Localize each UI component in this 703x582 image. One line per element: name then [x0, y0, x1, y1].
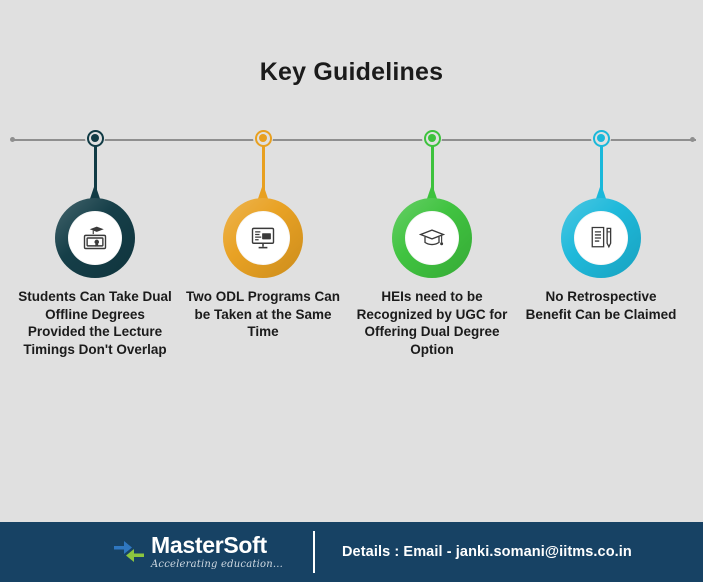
timeline-node-dot-4 [597, 134, 605, 142]
timeline-caption-1: Students Can Take Dual Offline Degrees P… [16, 288, 174, 358]
pin-icon-badge-4 [574, 211, 628, 265]
timeline-node-1[interactable] [85, 128, 105, 148]
infographic-canvas: Key Guidelines [0, 0, 703, 582]
timeline-node-ring-2 [255, 130, 272, 147]
footer-divider [313, 531, 315, 573]
certificate-graduation-icon [81, 224, 109, 252]
timeline-node-dot-1 [91, 134, 99, 142]
timeline-node-2[interactable] [253, 128, 273, 148]
timeline-node-ring-1 [87, 130, 104, 147]
timeline-caption-2: Two ODL Programs Can be Taken at the Sam… [184, 288, 342, 341]
timeline-axis-cap-left [10, 137, 15, 142]
footer-bar: MasterSoft Accelerating education... Det… [0, 522, 703, 582]
desktop-monitor-icon [249, 224, 277, 252]
timeline-node-3[interactable] [422, 128, 442, 148]
mastersoft-logo-mark-icon [112, 537, 146, 572]
footer-content: MasterSoft Accelerating education... Det… [112, 531, 632, 573]
pin-icon-badge-3 [405, 211, 459, 265]
page-title: Key Guidelines [0, 58, 703, 87]
mastersoft-logo-text: MasterSoft [151, 532, 267, 558]
timeline-caption-4: No Retrospective Benefit Can be Claimed [522, 288, 680, 323]
timeline-node-dot-3 [428, 134, 436, 142]
footer-contact-details: Details : Email - janki.somani@iitms.co.… [342, 544, 632, 560]
pin-icon-badge-2 [236, 211, 290, 265]
timeline-axis-cap-right [690, 137, 695, 142]
timeline-node-dot-2 [259, 134, 267, 142]
timeline-pin-3[interactable] [392, 184, 472, 278]
timeline-pin-1[interactable] [55, 184, 135, 278]
timeline-node-ring-4 [593, 130, 610, 147]
timeline-node-ring-3 [424, 130, 441, 147]
timeline-caption-3: HEIs need to be Recognized by UGC for Of… [353, 288, 511, 358]
mastersoft-logo[interactable]: MasterSoft Accelerating education... [112, 533, 283, 572]
timeline-pin-4[interactable] [561, 184, 641, 278]
graduation-cap-icon [418, 224, 446, 252]
document-pencil-icon [587, 224, 615, 252]
pin-icon-badge-1 [68, 211, 122, 265]
timeline-pin-2[interactable] [223, 184, 303, 278]
timeline-node-4[interactable] [591, 128, 611, 148]
mastersoft-logo-tagline: Accelerating education... [151, 559, 283, 570]
